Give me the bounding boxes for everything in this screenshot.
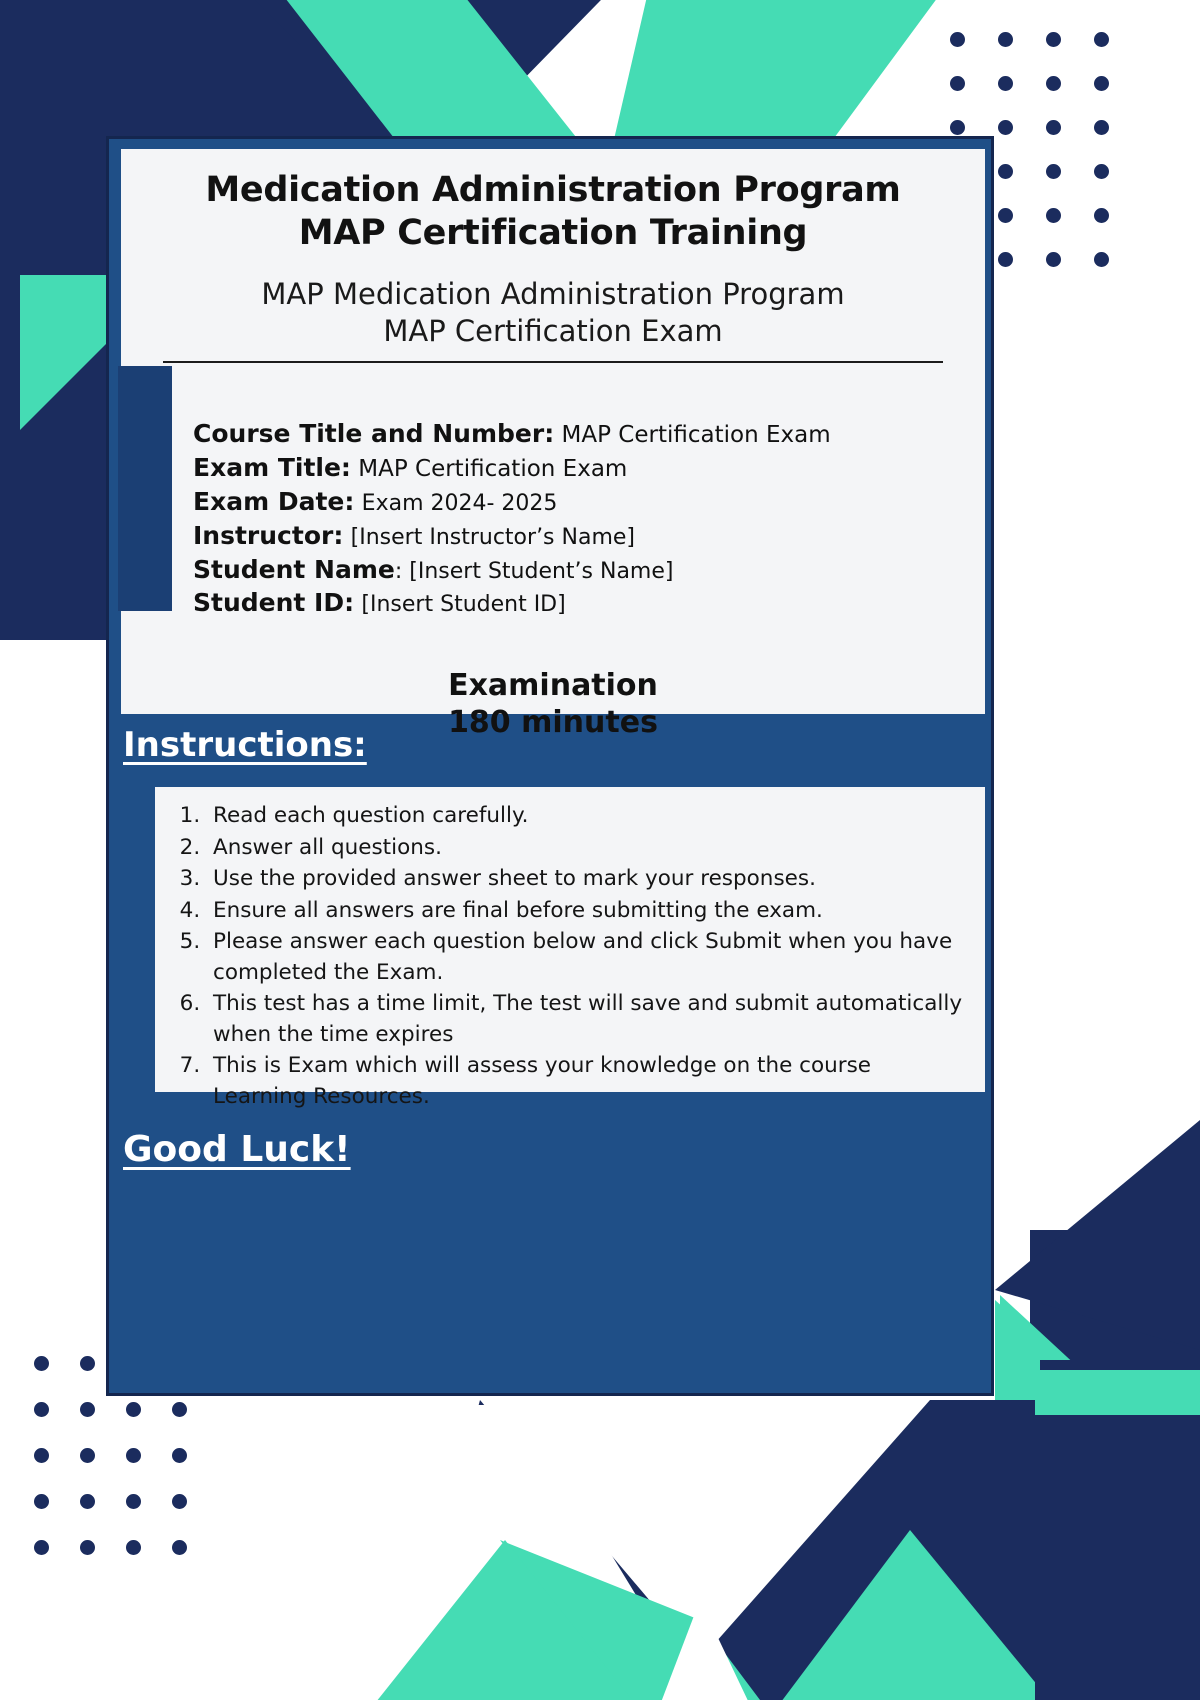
detail-value-student-id: [Insert Student ID] [361,592,565,617]
dot [172,1540,187,1555]
page-canvas: Medication Administration Program MAP Ce… [0,0,1200,1700]
detail-row-course: Course Title and Number: MAP Certificati… [193,417,957,451]
dot [126,1494,141,1509]
detail-value-exam-date: Exam 2024- 2025 [362,491,558,516]
instructions-panel: Read each question carefully. Answer all… [155,787,985,1092]
dot [1046,120,1061,135]
dot [80,1540,95,1555]
details-accent-bar [118,366,172,611]
dot [172,1494,187,1509]
detail-label-exam-date: Exam Date: [193,487,354,516]
dot [126,1540,141,1555]
detail-label-course: Course Title and Number: [193,419,554,448]
detail-row-student-name: Student Name: [Insert Student’s Name] [193,553,957,587]
dot [126,1448,141,1463]
good-luck-text: Good Luck! [123,1129,351,1170]
dot [34,1402,49,1417]
dot [1094,76,1109,91]
dot [34,1494,49,1509]
dot [34,1540,49,1555]
detail-label-student-id: Student ID: [193,588,354,617]
detail-label-instructor: Instructor: [193,521,343,550]
detail-row-exam-date: Exam Date: Exam 2024- 2025 [193,485,957,519]
dot [80,1494,95,1509]
dot [34,1356,49,1371]
detail-label-exam-title: Exam Title: [193,453,351,482]
dot [1046,208,1061,223]
exam-card: Medication Administration Program MAP Ce… [106,136,994,1396]
dot [1046,76,1061,91]
dot [998,32,1013,47]
dot [1094,252,1109,267]
dot [1094,164,1109,179]
list-item: Please answer each question below and cl… [207,927,967,988]
page-title-line-2: MAP Certification Training [149,212,957,255]
detail-row-instructor: Instructor: [Insert Instructor’s Name] [193,519,957,553]
dot [1046,252,1061,267]
dot [950,120,965,135]
page-title-line-1: Medication Administration Program [149,169,957,212]
list-item: Answer all questions. [207,833,967,864]
instructions-heading: Instructions: [123,725,983,765]
dot [998,208,1013,223]
page-subtitle: MAP Medication Administration Program MA… [149,276,957,349]
dot [1046,164,1061,179]
detail-row-student-id: Student ID: [Insert Student ID] [193,586,957,620]
dot [998,76,1013,91]
dot [80,1356,95,1371]
shape-navy-right-triangle-2 [995,1120,1200,1350]
dot [80,1402,95,1417]
shape-teal-small-right [1035,1370,1200,1420]
detail-value-instructor: [Insert Instructor’s Name] [351,525,635,550]
dot [1094,120,1109,135]
dot [950,76,965,91]
detail-label-student-name: Student Name [193,555,395,584]
detail-row-exam-title: Exam Title: MAP Certification Exam [193,451,957,485]
page-title: Medication Administration Program MAP Ce… [149,169,957,254]
dot [950,32,965,47]
dot [998,120,1013,135]
list-item: This test has a time limit, The test wil… [207,989,967,1050]
list-item: Ensure all answers are final before subm… [207,896,967,927]
detail-value-exam-title: MAP Certification Exam [358,456,627,482]
shape-navy-cover-right-bottom [1035,1415,1200,1700]
list-item: Read each question carefully. [207,801,967,832]
list-item: Use the provided answer sheet to mark yo… [207,864,967,895]
dot [1094,208,1109,223]
exam-header-panel: Medication Administration Program MAP Ce… [121,149,985,714]
dot [998,252,1013,267]
header-divider [163,361,943,363]
dot [1046,32,1061,47]
dot [126,1402,141,1417]
detail-value-student-name: : [Insert Student’s Name] [395,559,674,584]
dot [998,164,1013,179]
page-subtitle-line-2: MAP Certification Exam [149,313,957,349]
dot [34,1448,49,1463]
examination-title: Examination [149,668,957,704]
dot [80,1448,95,1463]
instructions-list: Read each question carefully. Answer all… [169,801,967,1112]
exam-details: Course Title and Number: MAP Certificati… [149,417,957,621]
page-subtitle-line-1: MAP Medication Administration Program [149,276,957,312]
list-item: This is Exam which will assess your know… [207,1051,967,1112]
detail-value-course: MAP Certification Exam [562,422,831,448]
dot [172,1402,187,1417]
dot [172,1448,187,1463]
dot [1094,32,1109,47]
